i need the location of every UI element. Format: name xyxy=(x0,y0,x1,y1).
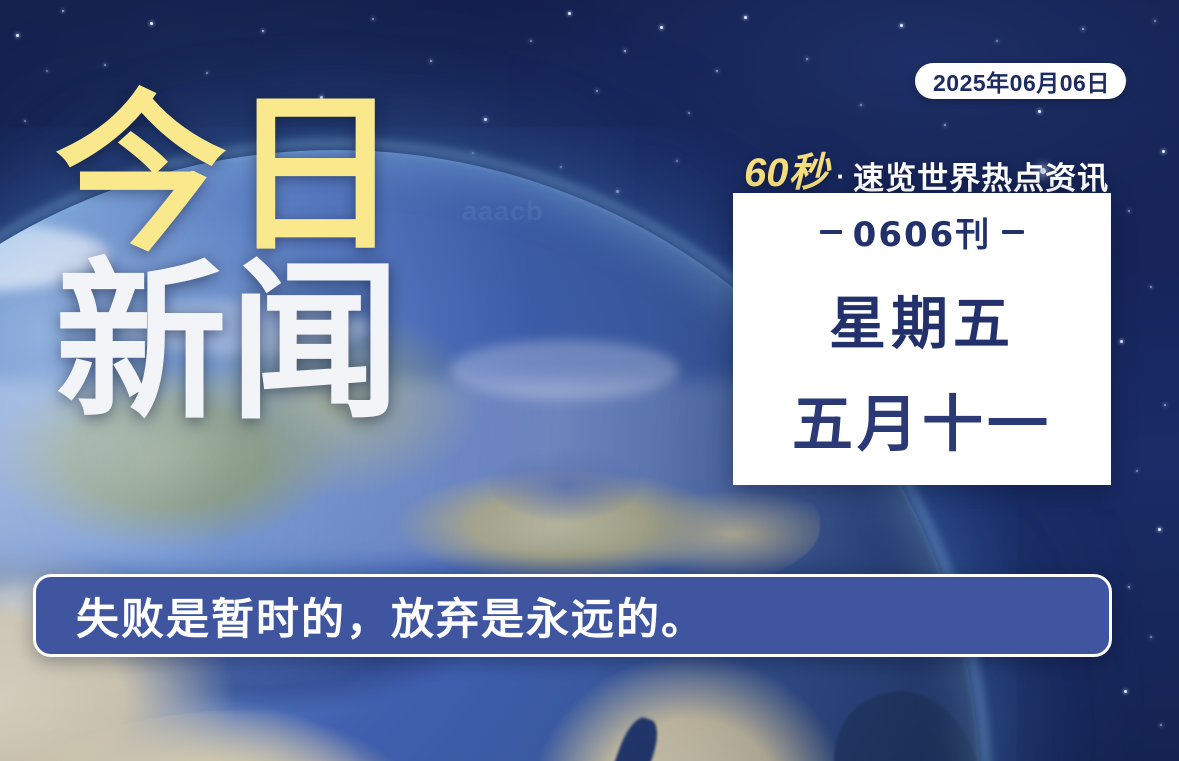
dash-left-icon xyxy=(820,230,842,234)
tagline-text: 速览世界热点资讯 xyxy=(853,153,1109,198)
title-line-news: 新闻 xyxy=(55,263,403,423)
issue-card: 0606刊 星期五 五月十一 xyxy=(733,193,1111,485)
title-line-today: 今日 xyxy=(55,95,403,255)
quote-text: 失败是暂时的，放弃是永远的。 xyxy=(76,585,706,647)
lunar-date-label: 五月十一 xyxy=(792,374,1052,463)
watermark-text: aaacb xyxy=(462,196,544,227)
issue-number-label: 0606刊 xyxy=(853,207,992,256)
quote-bar: 失败是暂时的，放弃是永远的。 xyxy=(33,574,1112,657)
page-title: 今日 新闻 xyxy=(55,95,403,423)
weekday-label: 星期五 xyxy=(829,278,1015,360)
news-poster: aaacb 今日 新闻 2025年06月06日 60秒 · 速览世界热点资讯 0… xyxy=(0,0,1179,761)
tagline-seconds: 60秒 xyxy=(744,140,829,198)
dash-right-icon xyxy=(1002,230,1024,234)
issue-row: 0606刊 xyxy=(820,207,1025,256)
tagline: 60秒 · 速览世界热点资讯 xyxy=(744,140,1109,198)
date-badge: 2025年06月06日 xyxy=(915,63,1126,99)
date-badge-label: 2025年06月06日 xyxy=(933,64,1110,98)
